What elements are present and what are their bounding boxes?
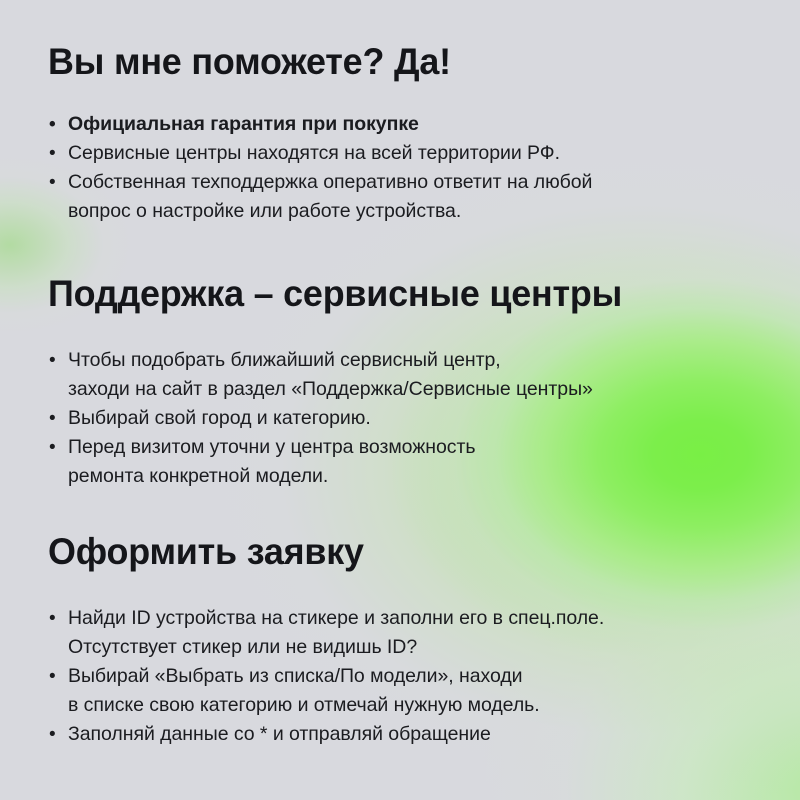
- list-item: Найди ID устройства на стикере и заполни…: [48, 604, 772, 662]
- section-service-centers: Поддержка – сервисные центры Чтобы подоб…: [48, 272, 772, 491]
- list-item: Сервисные центры находятся на всей терри…: [48, 139, 772, 168]
- list-item: Выбирай свой город и категорию.: [48, 404, 772, 433]
- list-item: Собственная техподдержка оперативно отве…: [48, 168, 772, 226]
- bullet-line: Перед визитом уточни у центра возможност…: [68, 433, 772, 462]
- bullet-line: Заполняй данные со * и отправляй обращен…: [68, 720, 772, 749]
- bullet-list: Чтобы подобрать ближайший сервисный цент…: [48, 346, 772, 491]
- bullet-line: в списке свою категорию и отмечай нужную…: [68, 691, 772, 720]
- bullet-line: Официальная гарантия при покупке: [68, 110, 772, 139]
- section-heading: Вы мне поможете? Да!: [48, 40, 750, 84]
- slide-canvas: Вы мне поможете? Да! Официальная гаранти…: [0, 0, 800, 800]
- list-item: Заполняй данные со * и отправляй обращен…: [48, 720, 772, 749]
- bullet-line: заходи на сайт в раздел «Поддержка/Серви…: [68, 375, 772, 404]
- list-item: Чтобы подобрать ближайший сервисный цент…: [48, 346, 772, 404]
- bullet-list: Официальная гарантия при покупке Сервисн…: [48, 110, 772, 226]
- bullet-line: Собственная техподдержка оперативно отве…: [68, 168, 772, 197]
- bullet-line: ремонта конкретной модели.: [68, 462, 772, 491]
- bullet-line: Отсутствует стикер или не видишь ID?: [68, 633, 772, 662]
- bullet-line: Сервисные центры находятся на всей терри…: [68, 139, 772, 168]
- section-submit-request: Оформить заявку Найди ID устройства на с…: [48, 530, 772, 749]
- bullet-line: Выбирай «Выбрать из списка/По модели», н…: [68, 662, 772, 691]
- bullet-line: Выбирай свой город и категорию.: [68, 404, 772, 433]
- bullet-line: Найди ID устройства на стикере и заполни…: [68, 604, 772, 633]
- bullet-list: Найди ID устройства на стикере и заполни…: [48, 604, 772, 749]
- list-item: Официальная гарантия при покупке: [48, 110, 772, 139]
- section-heading: Оформить заявку: [48, 530, 750, 574]
- list-item: Перед визитом уточни у центра возможност…: [48, 433, 772, 491]
- list-item: Выбирай «Выбрать из списка/По модели», н…: [48, 662, 772, 720]
- section-help: Вы мне поможете? Да! Официальная гаранти…: [48, 40, 772, 226]
- bullet-line: вопрос о настройке или работе устройства…: [68, 197, 772, 226]
- bullet-line: Чтобы подобрать ближайший сервисный цент…: [68, 346, 772, 375]
- section-heading: Поддержка – сервисные центры: [48, 272, 750, 316]
